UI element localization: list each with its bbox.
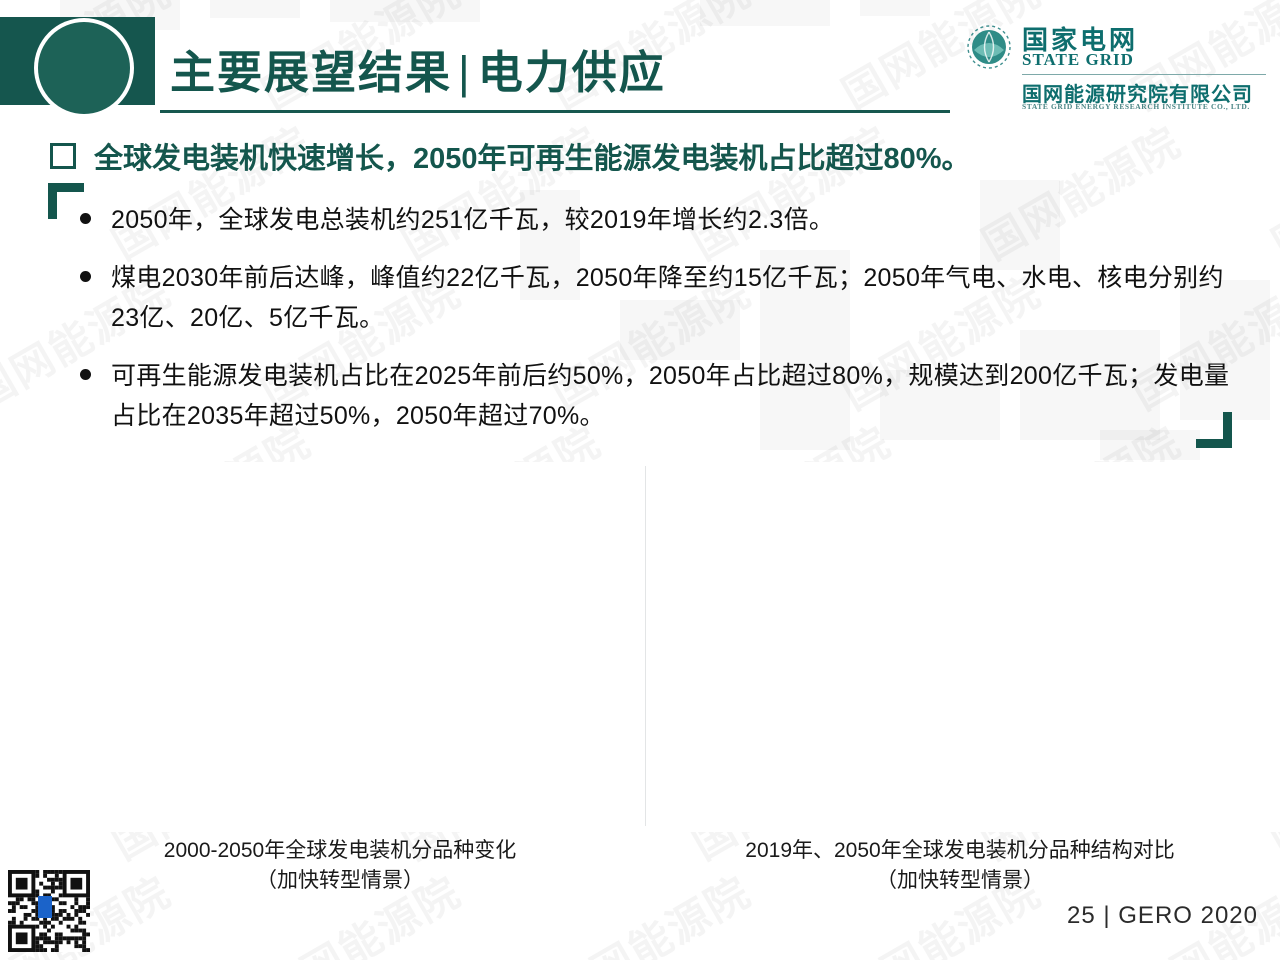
caption-right-line2: （加快转型情景） xyxy=(660,866,1260,896)
bullet-text: 可再生能源发电装机占比在2025年前后约50%，2050年占比超过80%，规模达… xyxy=(111,356,1230,437)
watermark-text: 国网能源院 xyxy=(1259,109,1280,272)
caption-right-line1: 2019年、2050年全球发电装机分品种结构对比 xyxy=(660,836,1260,866)
header-underline xyxy=(160,110,950,113)
square-bullet-icon xyxy=(50,143,76,169)
page-title-main: 主要展望结果 xyxy=(170,47,452,98)
caption-right: 2019年、2050年全球发电装机分品种结构对比 （加快转型情景） xyxy=(660,836,1260,897)
caption-left-line1: 2000-2050年全球发电装机分品种变化 xyxy=(60,836,620,866)
headline-text: 全球发电装机快速增长，2050年可再生能源发电装机占比超过80%。 xyxy=(94,135,971,177)
caption-left: 2000-2050年全球发电装机分品种变化 （加快转型情景） xyxy=(60,836,620,897)
logo-divider xyxy=(1022,74,1266,75)
footer-page-indicator: 25 | GERO 2020 xyxy=(1067,902,1258,930)
logo-company-en: STATE GRID xyxy=(1022,50,1134,70)
round-bullet-icon xyxy=(80,213,91,224)
bullet-text: 煤电2030年前后达峰，峰值约22亿千瓦，2050年降至约15亿千瓦；2050年… xyxy=(111,258,1230,339)
page-title: 主要展望结果|电力供应 xyxy=(170,36,666,101)
state-grid-globe-icon xyxy=(966,24,1012,70)
round-bullet-icon xyxy=(80,271,91,282)
bullet-text: 2050年，全球发电总装机约251亿千瓦，较2019年增长约2.3倍。 xyxy=(111,200,834,241)
list-item: 2050年，全球发电总装机约251亿千瓦，较2019年增长约2.3倍。 xyxy=(70,200,1230,241)
charts-area xyxy=(0,462,1280,832)
footer-page-number: 25 xyxy=(1067,902,1096,929)
list-item: 可再生能源发电装机占比在2025年前后约50%，2050年占比超过80%，规模达… xyxy=(70,356,1230,437)
state-grid-logo: 国家电网 STATE GRID 国网能源研究院有限公司 STATE GRID E… xyxy=(966,18,1266,110)
bullet-list: 2050年，全球发电总装机约251亿千瓦，较2019年增长约2.3倍。 煤电20… xyxy=(70,200,1230,454)
qr-code[interactable] xyxy=(8,870,90,952)
page-title-sub: 电力供应 xyxy=(478,47,666,98)
caption-left-line2: （加快转型情景） xyxy=(60,866,620,896)
round-bullet-icon xyxy=(80,369,91,380)
headline-row: 全球发电装机快速增长，2050年可再生能源发电装机占比超过80%。 xyxy=(50,133,1240,179)
logo-institute-en: STATE GRID ENERGY RESEARCH INSTITUTE CO.… xyxy=(1022,102,1250,111)
slide-header: 主要展望结果|电力供应 国家电网 STATE GRID 国网能源研究院有限公司 … xyxy=(0,0,1280,118)
footer-separator: | xyxy=(1103,902,1110,929)
page-title-separator: | xyxy=(452,47,478,98)
footer-label: GERO 2020 xyxy=(1118,902,1258,929)
header-circle-decoration xyxy=(38,22,130,114)
list-item: 煤电2030年前后达峰，峰值约22亿千瓦，2050年降至约15亿千瓦；2050年… xyxy=(70,258,1230,339)
panel-divider xyxy=(645,466,646,826)
